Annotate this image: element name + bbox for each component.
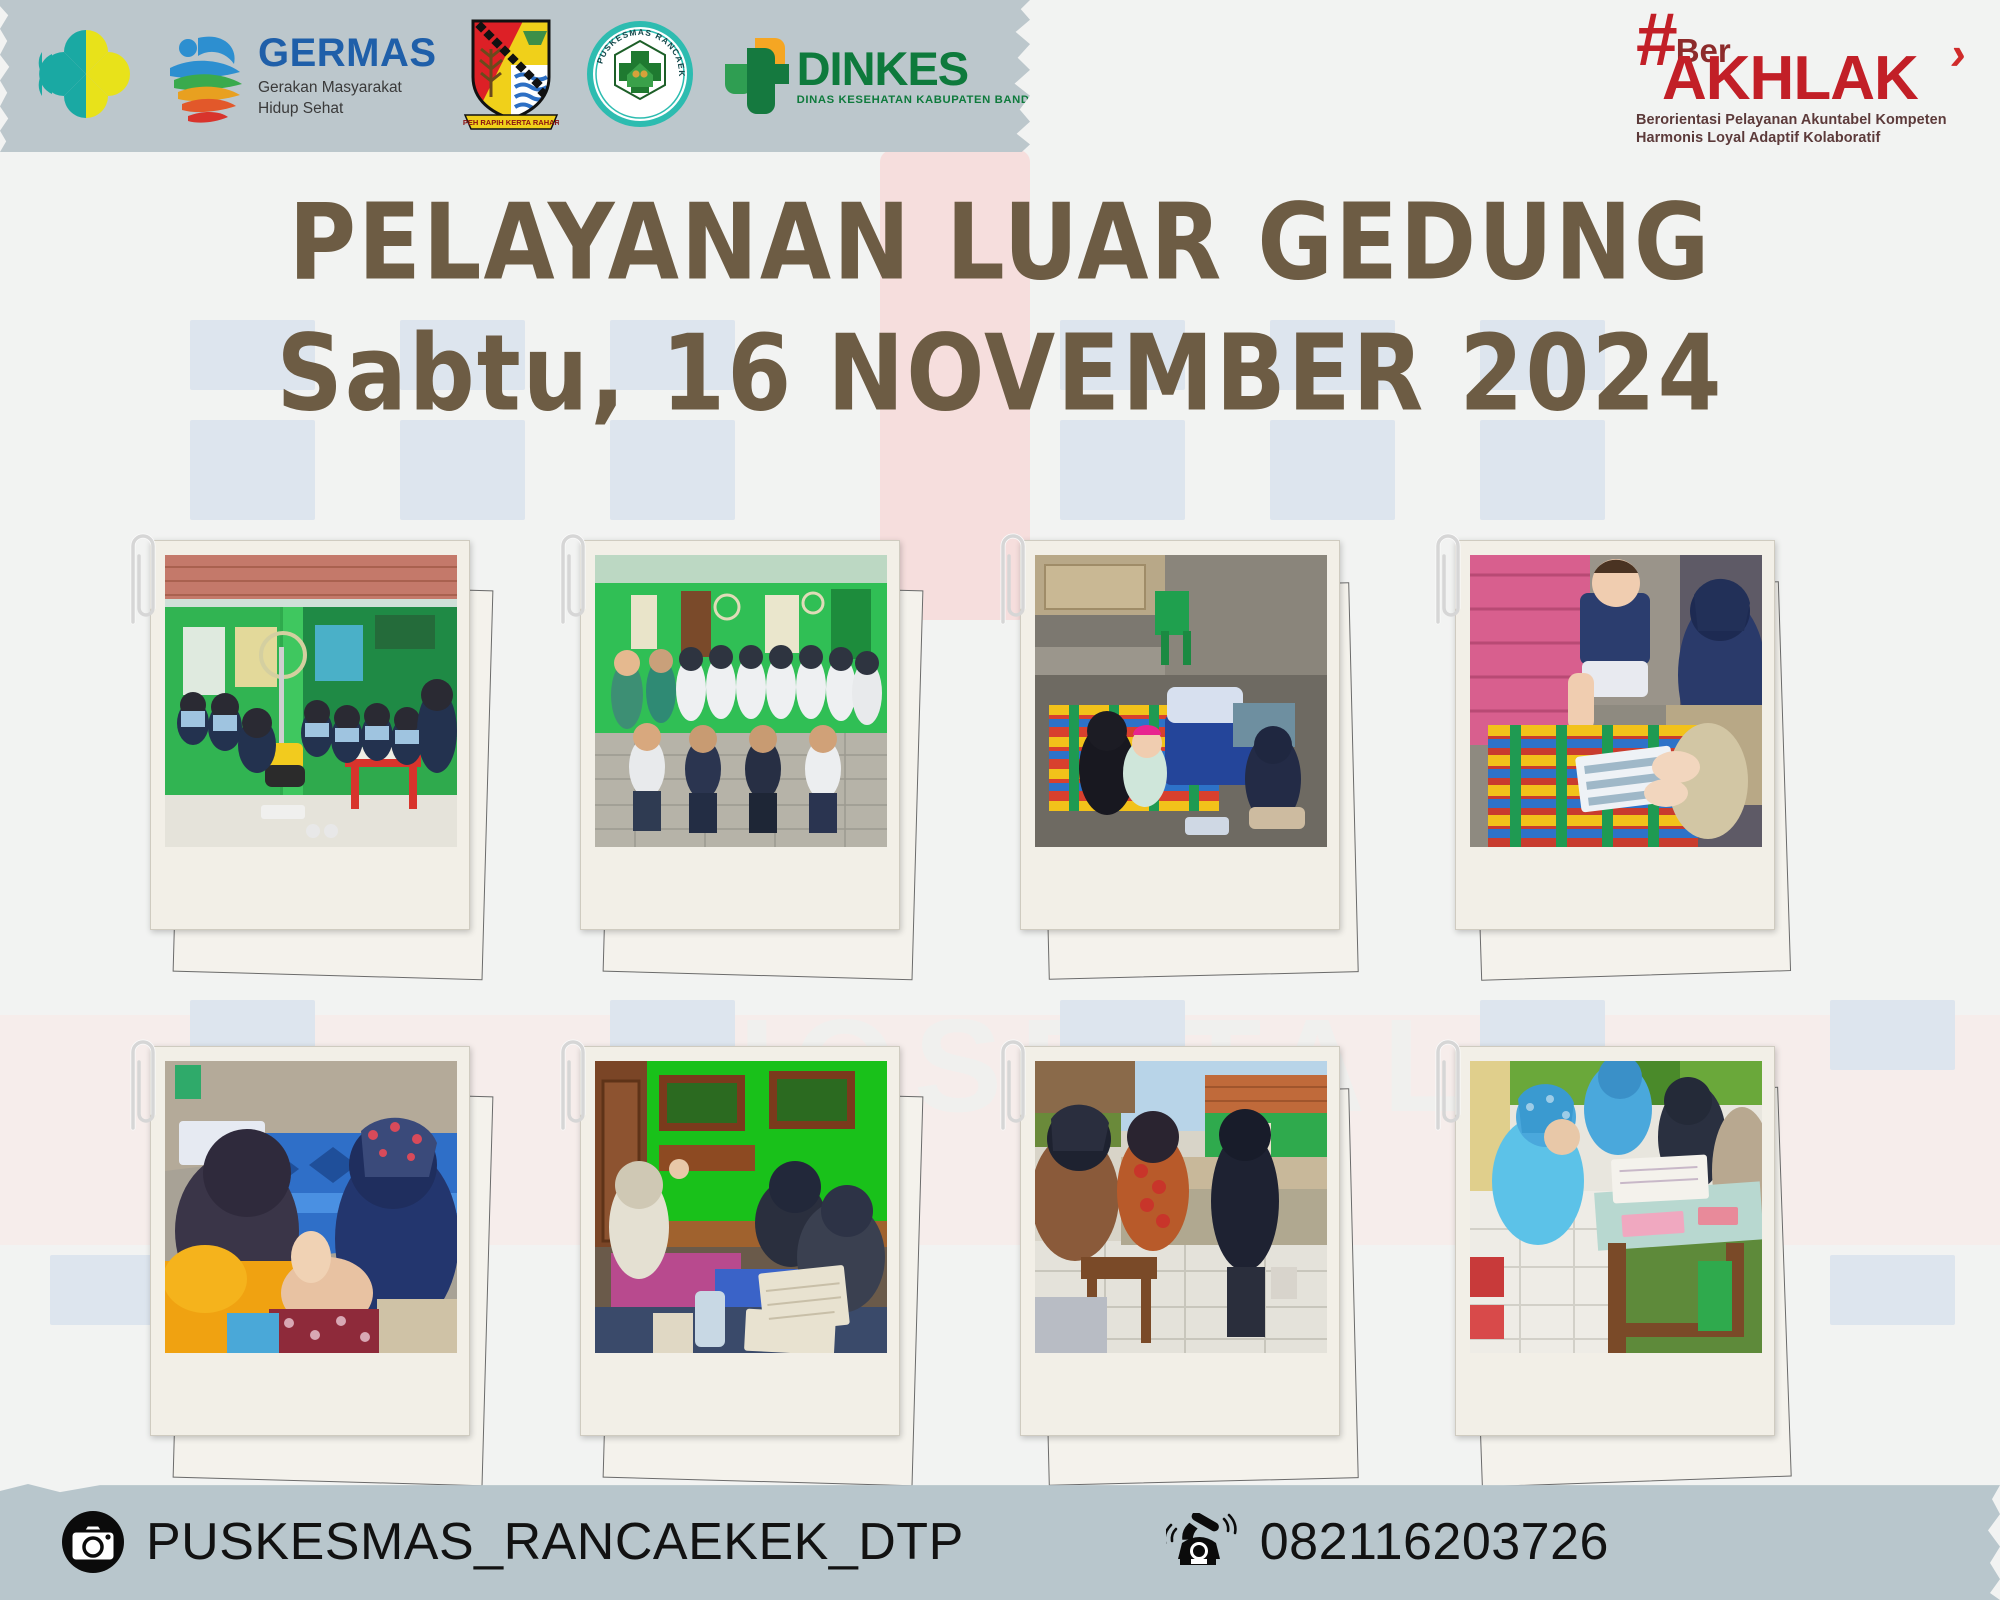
berakhlak-akhlak-text: AKHLAK	[1662, 54, 1966, 105]
polaroid-frame[interactable]	[580, 540, 900, 930]
camera-icon	[62, 1511, 124, 1573]
germas-subtitle-line1: Gerakan Masyarakat	[258, 78, 437, 98]
instagram-contact[interactable]: PUSKESMAS_RANCAEKEK_DTP	[62, 1511, 964, 1573]
photo-kunjungan-rumah-bayi	[1035, 555, 1327, 847]
berakhlak-tagline-line2: Harmonis Loyal Adaptif Kolaboratif	[1636, 129, 1966, 147]
dinkes-mark-icon	[721, 34, 793, 118]
dinkes-logo: DINKES DINAS KESEHATAN KABUPATEN BANDUNG	[721, 34, 1057, 118]
photo-pemeriksaan-bayi-lantai	[165, 1061, 457, 1353]
kemenkes-flower-icon	[34, 22, 138, 126]
polaroid-frame[interactable]	[1020, 1046, 1340, 1436]
paper-clip-icon	[994, 1028, 1028, 1136]
phone-contact[interactable]: 082116203726	[1166, 1512, 1609, 1572]
polaroid-frame[interactable]	[1020, 540, 1340, 930]
polaroid-frame[interactable]	[150, 1046, 470, 1436]
polaroid-frame[interactable]	[1455, 540, 1775, 930]
photo-foto-bersama-siswa	[595, 555, 887, 847]
kabupaten-bandung-crest: REPEH RAPIH KERTA RAHARJA	[463, 15, 559, 138]
instagram-handle: PUSKESMAS_RANCAEKEK_DTP	[146, 1512, 964, 1572]
paper-clip-icon	[1429, 1028, 1463, 1136]
paper-clip-icon	[124, 1028, 158, 1136]
kemenkes-logo	[34, 22, 138, 131]
germas-subtitle-line2: Hidup Sehat	[258, 99, 437, 119]
photo-pemeriksaan-balita	[1470, 555, 1762, 847]
photo-gallery	[0, 540, 2000, 1546]
polaroid-frame[interactable]	[580, 1046, 900, 1436]
title-line-2: Sabtu, 16 NOVEMBER 2024	[0, 299, 2000, 448]
gallery-row	[0, 540, 2000, 1040]
germas-figure-icon	[164, 26, 250, 126]
paper-clip-icon	[124, 522, 158, 630]
phone-number: 082116203726	[1260, 1512, 1609, 1572]
puskesmas-seal: PUSKESMAS RANCAEKEK DTP KABUPATEN BANDUN…	[585, 19, 695, 134]
germas-title: GERMAS	[258, 33, 437, 73]
photo-pencatatan-posyandu	[1470, 1061, 1762, 1353]
telephone-icon	[1166, 1513, 1238, 1571]
dinkes-subtitle: DINAS KESEHATAN KABUPATEN BANDUNG	[797, 95, 1057, 106]
title-line-1: PELAYANAN LUAR GEDUNG	[0, 169, 2000, 318]
photo-penyuluhan-sekolah	[165, 555, 457, 847]
germas-logo: GERMAS Gerakan Masyarakat Hidup Sehat	[164, 26, 437, 126]
polaroid-frame[interactable]	[150, 540, 470, 930]
crest-motto: REPEH RAPIH KERTA RAHARJA	[463, 118, 559, 127]
berakhlak-logo: # Ber › AKHLAK Berorientasi Pelayanan Ak…	[1636, 12, 1966, 148]
polaroid-frame[interactable]	[1455, 1046, 1775, 1436]
header-logo-banner: GERMAS Gerakan Masyarakat Hidup Sehat	[0, 0, 1030, 152]
photo-konseling-keluarga	[595, 1061, 887, 1353]
paper-clip-icon	[554, 522, 588, 630]
paper-clip-icon	[1429, 522, 1463, 630]
berakhlak-tagline-line1: Berorientasi Pelayanan Akuntabel Kompete…	[1636, 111, 1966, 129]
gallery-row	[0, 1046, 2000, 1546]
paper-clip-icon	[554, 1028, 588, 1136]
footer-contact-banner: PUSKESMAS_RANCAEKEK_DTP 082116203726	[0, 1484, 2000, 1600]
puskesmas-seal-icon: PUSKESMAS RANCAEKEK DTP KABUPATEN BANDUN…	[585, 19, 695, 129]
paper-clip-icon	[994, 522, 1028, 630]
photo-warga-menunggu	[1035, 1061, 1327, 1353]
page-title: PELAYANAN LUAR GEDUNG Sabtu, 16 NOVEMBER…	[0, 178, 2000, 439]
crest-shield-icon: REPEH RAPIH KERTA RAHARJA	[463, 15, 559, 133]
